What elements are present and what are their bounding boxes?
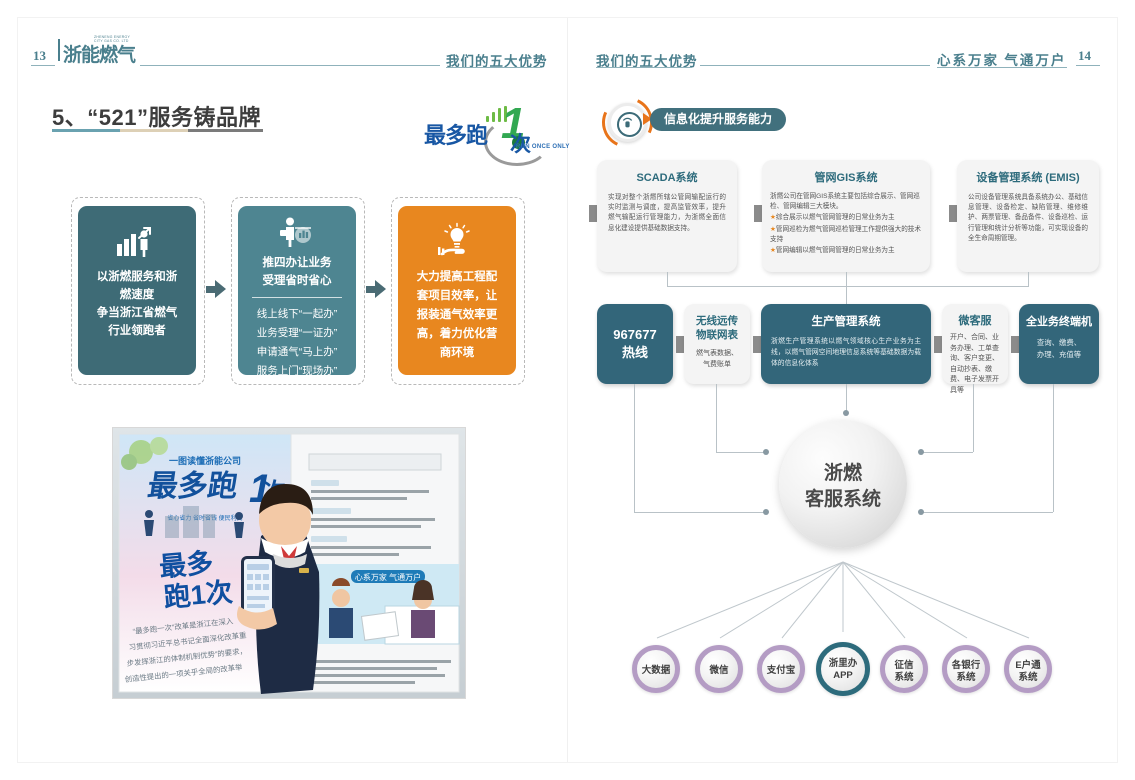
channel-alipay-label: 支付宝 — [762, 665, 800, 677]
channel-bigdata-label: 大数据 — [637, 665, 675, 677]
title-underline-tan — [120, 129, 188, 132]
card-gis-title: 管网GIS系统 — [762, 169, 930, 185]
right-header-left-underline — [596, 67, 692, 68]
run-once-subtext: RUN ONCE ONLY — [516, 144, 570, 150]
run-once-suffix: 次 — [510, 128, 531, 158]
hub-link-hotline-h — [634, 512, 766, 513]
card-emis[interactable]: 设备管理系统 (EMIS) 公司设备管理系统具备系统办公、基础信息管理、设备检定… — [957, 160, 1099, 272]
channel-wechat[interactable]: 微信 — [695, 645, 743, 693]
card-hotline-line-1: 967677 — [597, 326, 673, 344]
card-hotline[interactable]: 967677 热线 — [597, 304, 673, 384]
card-terminal-body: 查询、缴费、 办理、充值等 — [1025, 337, 1093, 361]
card-hotline-line-2: 热线 — [597, 344, 673, 362]
card-scada[interactable]: SCADA系统 实现对整个浙燃所辖公管网输配运行的实时监测与调度，提高监管效率，… — [597, 160, 737, 272]
card-gis-body: 浙燃公司在管网GIS系统主要包括综合展示、管网巡检、管网编辑三大模块。 — [770, 192, 922, 212]
flow-box-2-body-4: 服务上门“现场办” — [238, 362, 356, 381]
hub-node-hotline — [763, 509, 769, 515]
logo-en-line2: CITY GAS CO. LTD — [94, 39, 129, 43]
channel-bigdata[interactable]: 大数据 — [632, 645, 680, 693]
bus-drop-center — [846, 286, 847, 304]
hub-link-wechat-v — [973, 384, 974, 452]
left-header-title-underline — [446, 67, 542, 68]
hub-link-iot-v — [716, 384, 717, 452]
brand-logo: 浙能燃气 ZHENENG ENERGY CITY GAS CO. LTD — [58, 37, 138, 63]
flow-box-3-line-3: 报装通气效率更 — [398, 306, 516, 325]
hub-link-hotline-v — [634, 384, 635, 512]
hub-node-terminal — [918, 509, 924, 515]
channel-ehutong-label-2: 系统 — [1009, 672, 1047, 684]
channel-zlb-label-1: 浙里办 — [821, 658, 865, 670]
card-iot-title-2: 物联网表 — [684, 328, 750, 342]
flow-arrow-1 — [215, 280, 226, 298]
service-person-icon — [238, 216, 356, 253]
flow-box-2-title-1: 推四办让业务 — [238, 254, 356, 272]
svg-text:跑1次: 跑1次 — [163, 577, 234, 613]
channel-credit-label-2: 系统 — [885, 672, 923, 684]
bus-horizontal — [667, 286, 1029, 287]
channel-ehutong-label-1: E户通 — [1009, 660, 1047, 672]
card-emis-body: 公司设备管理系统具备系统办公、基础信息管理、设备检定、缺陷管理、维修维护、两票管… — [968, 193, 1088, 244]
channel-banks-label-2: 系统 — [947, 672, 985, 684]
channel-ehutong[interactable]: E户通 系统 — [1004, 645, 1052, 693]
card-wechat-service-title: 微客服 — [942, 312, 1008, 328]
card-iot-meter[interactable]: 无线远传 物联网表 燃气表数据、 气费账单 — [684, 304, 750, 384]
bus-drop-scada — [667, 272, 668, 286]
svg-text:一图读懂浙能公司: 一图读懂浙能公司 — [169, 455, 241, 466]
flow-box-1-line-3: 争当浙江省燃气 — [78, 304, 196, 322]
card-terminal-title: 全业务终端机 — [1019, 313, 1099, 329]
channel-banks[interactable]: 各银行 系统 — [942, 645, 990, 693]
card-emis-title: 设备管理系统 (EMIS) — [957, 169, 1099, 185]
logo-cn-text: 浙能燃气 — [63, 40, 135, 67]
flow-box-2[interactable]: 推四办让业务 受理省时省心 线上线下“一起办” 业务受理“一证办” 申请通气“马… — [238, 206, 356, 375]
card-production-title: 生产管理系统 — [761, 313, 931, 329]
right-pagenum-rule — [1076, 65, 1100, 66]
hub-circle[interactable]: 浙燃 客服系统 — [779, 420, 907, 548]
flow-box-3-line-4: 高，着力优化营 — [398, 325, 516, 344]
title-underline-gray — [188, 129, 263, 132]
card-iot-title-1: 无线远传 — [684, 314, 750, 328]
flow-box-2-body-3: 申请通气“马上办” — [238, 343, 356, 362]
channel-credit[interactable]: 征信 系统 — [880, 645, 928, 693]
channel-zlb-app[interactable]: 浙里办 APP — [816, 642, 870, 696]
hub-node-wechat — [918, 449, 924, 455]
flow-box-1-line-1: 以浙燃服务和浙 — [78, 268, 196, 286]
left-page-number: 13 — [33, 48, 46, 64]
channel-wechat-label: 微信 — [700, 665, 738, 677]
right-header-right-underline — [937, 67, 1067, 68]
right-header-rule — [700, 65, 930, 66]
badge-ring — [608, 103, 647, 142]
badge-label: 信息化提升服务能力 — [650, 108, 786, 131]
hub-line-1: 浙燃 — [779, 458, 907, 485]
hub-line-2: 客服系统 — [779, 484, 907, 511]
service-photo: 心系万家 气通万户 一图读懂浙能公司 最多跑 1 次 省心省力 省时省钱 便民利… — [113, 428, 465, 698]
bus-drop-gis — [846, 272, 847, 286]
card-production[interactable]: 生产管理系统 浙燃生产管理系统以燃气领域核心生产业务为主线，以燃气管网空间地理信… — [761, 304, 931, 384]
run-once-logo: 最多跑 1 次 RUN ONCE ONLY — [424, 100, 552, 162]
growth-chart-person-icon — [78, 224, 196, 263]
broadcast-hand-icon — [617, 112, 642, 137]
flow-box-2-title-2: 受理省时省心 — [238, 272, 356, 290]
hub-link-iot-h — [716, 452, 766, 453]
bus-drop-emis — [1028, 272, 1029, 286]
card-scada-title: SCADA系统 — [597, 169, 737, 185]
flow-arrow-2 — [375, 280, 386, 298]
card-gis-bullet-3: ★管网编辑以燃气管网管理的日常业务为主 — [770, 246, 922, 256]
card-gis-bullet-2: ★管网巡检为燃气管网巡检管理工作提供强大的技术支持 — [770, 225, 922, 245]
card-wechat-service[interactable]: 微客服 开户、合同、业务办理、工单查询、客户变更、自动抄表、缴费、电子发票开具等 — [942, 304, 1008, 384]
card-production-body: 浙燃生产管理系统以燃气领域核心生产业务为主线，以燃气管网空间地理信息系统等基础数… — [771, 336, 921, 369]
hub-link-wechat-h — [923, 452, 973, 453]
card-terminal[interactable]: 全业务终端机 查询、缴费、 办理、充值等 — [1019, 304, 1099, 384]
card-wechat-service-body: 开户、合同、业务办理、工单查询、客户变更、自动抄表、缴费、电子发票开具等 — [950, 333, 1000, 397]
hub-link-terminal-v — [1053, 384, 1054, 512]
svg-text:心系万家 气通万户: 心系万家 气通万户 — [355, 572, 421, 582]
right-header-right-title: 心系万家 气通万户 — [937, 49, 1066, 69]
flow-box-2-body-2: 业务受理“一证办” — [238, 324, 356, 343]
flow-box-3-line-1: 大力提高工程配 — [398, 268, 516, 287]
hub-link-production-v — [846, 384, 847, 412]
card-scada-body: 实现对整个浙燃所辖公管网输配运行的实时监测与调度，提高监管效率，提升燃气输配运行… — [608, 193, 726, 234]
card-iot-body: 燃气表数据、 气费账单 — [684, 348, 750, 370]
channel-banks-label-1: 各银行 — [947, 660, 985, 672]
right-page-number: 14 — [1078, 48, 1091, 64]
channel-zlb-label-2: APP — [821, 670, 865, 682]
flow-box-1[interactable]: 以浙燃服务和浙 燃速度 争当浙江省燃气 行业领跑者 — [78, 206, 196, 375]
page-title: 5、“521”服务铸品牌 — [52, 100, 261, 132]
channel-credit-label-1: 征信 — [885, 660, 923, 672]
flow-box-1-line-2: 燃速度 — [78, 286, 196, 304]
channel-alipay[interactable]: 支付宝 — [757, 645, 805, 693]
flow-box-2-divider — [252, 297, 342, 298]
left-header-rule — [140, 65, 440, 66]
flow-box-3-line-5: 商环境 — [398, 344, 516, 363]
left-pagenum-rule — [31, 65, 55, 66]
title-underline-teal — [52, 129, 120, 132]
flow-box-3[interactable]: 大力提高工程配 套项目效率，让 报装通气效率更 高，着力优化营 商环境 — [398, 206, 516, 375]
flow-box-1-line-4: 行业领跑者 — [78, 322, 196, 340]
hub-node-production — [843, 410, 849, 416]
card-gis[interactable]: 管网GIS系统 浙燃公司在管网GIS系统主要包括综合展示、管网巡检、管网编辑三大… — [762, 160, 930, 272]
lightbulb-hand-icon — [398, 222, 516, 265]
flow-box-3-line-2: 套项目效率，让 — [398, 287, 516, 306]
svg-text:最多跑: 最多跑 — [145, 469, 240, 503]
svg-text:最多: 最多 — [158, 548, 214, 583]
flow-box-2-body-1: 线上线下“一起办” — [238, 305, 356, 324]
card-gis-bullet-1: ★综合展示以燃气管网管理的日常业务为主 — [770, 213, 922, 223]
hub-link-terminal-h — [921, 512, 1053, 513]
logo-bar — [58, 39, 60, 61]
slide-page: 13 浙能燃气 ZHENENG ENERGY CITY GAS CO. LTD … — [0, 0, 1135, 780]
hub-node-iot — [763, 449, 769, 455]
page-seam — [567, 18, 568, 762]
run-once-text: 最多跑 — [424, 118, 487, 150]
